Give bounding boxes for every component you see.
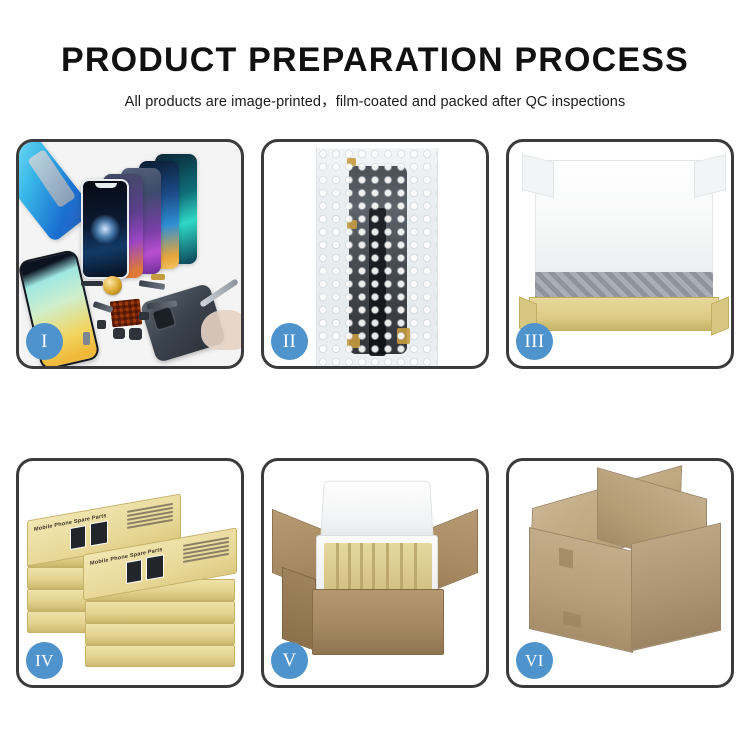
small-part <box>97 320 106 329</box>
step-badge-1: I <box>26 323 63 360</box>
step-badge-3: III <box>516 323 553 360</box>
page-title: PRODUCT PREPARATION PROCESS <box>0 43 750 77</box>
box-spec-lines <box>183 537 229 565</box>
kraft-box-layer <box>85 601 235 623</box>
step-badge-4: IV <box>26 642 63 679</box>
bubble-wrap-bag <box>316 148 438 366</box>
carton-front-panel <box>312 589 444 655</box>
copper-grid-chip <box>110 299 143 328</box>
process-step-panel-4: Mobile Phone Spare Parts Mobile Phone Sp… <box>16 458 244 688</box>
process-step-grid: I II I <box>16 139 734 691</box>
process-step-panel-6: VI <box>506 458 734 688</box>
small-part <box>151 274 165 280</box>
kraft-box-stack: Mobile Phone Spare Parts Mobile Phone Sp… <box>27 483 239 673</box>
small-part <box>83 332 90 345</box>
box-window <box>146 554 164 580</box>
kraft-box-layer <box>85 645 235 667</box>
small-part <box>113 328 125 339</box>
page-subtitle: All products are image-printed，film-coat… <box>0 90 750 111</box>
packing-tape-mark <box>559 547 573 568</box>
process-step-panel-2: II <box>261 139 489 369</box>
box-window <box>126 559 142 584</box>
small-part <box>139 312 149 320</box>
box-spec-lines <box>127 503 173 531</box>
small-part <box>81 281 103 286</box>
speaker-coil-part <box>103 276 122 295</box>
process-step-panel-1: I <box>16 139 244 369</box>
carton-side-panel <box>282 567 316 651</box>
step-badge-6: VI <box>516 642 553 679</box>
step-badge-2: II <box>271 323 308 360</box>
phone-screen-fan <box>81 154 226 289</box>
carton-right-face <box>631 523 721 652</box>
kraft-box-layer <box>85 623 235 645</box>
product-preparation-poster: PRODUCT PREPARATION PROCESS All products… <box>0 0 750 750</box>
small-part <box>129 328 142 340</box>
box-window <box>70 525 86 550</box>
bubble-texture <box>317 148 437 366</box>
poster-header: PRODUCT PREPARATION PROCESS All products… <box>0 0 750 111</box>
technician-hand <box>201 310 241 350</box>
foam-lid <box>320 481 434 542</box>
step-badge-5: V <box>271 642 308 679</box>
kraft-box-base <box>529 297 719 331</box>
box-window <box>90 520 108 546</box>
packed-kraft-boxes <box>324 543 432 591</box>
foam-liner <box>316 535 438 597</box>
process-step-panel-5: V <box>261 458 489 688</box>
process-step-panel-3: III <box>506 139 734 369</box>
phone-screen-1 <box>81 179 129 279</box>
white-inner-lid <box>535 160 713 278</box>
